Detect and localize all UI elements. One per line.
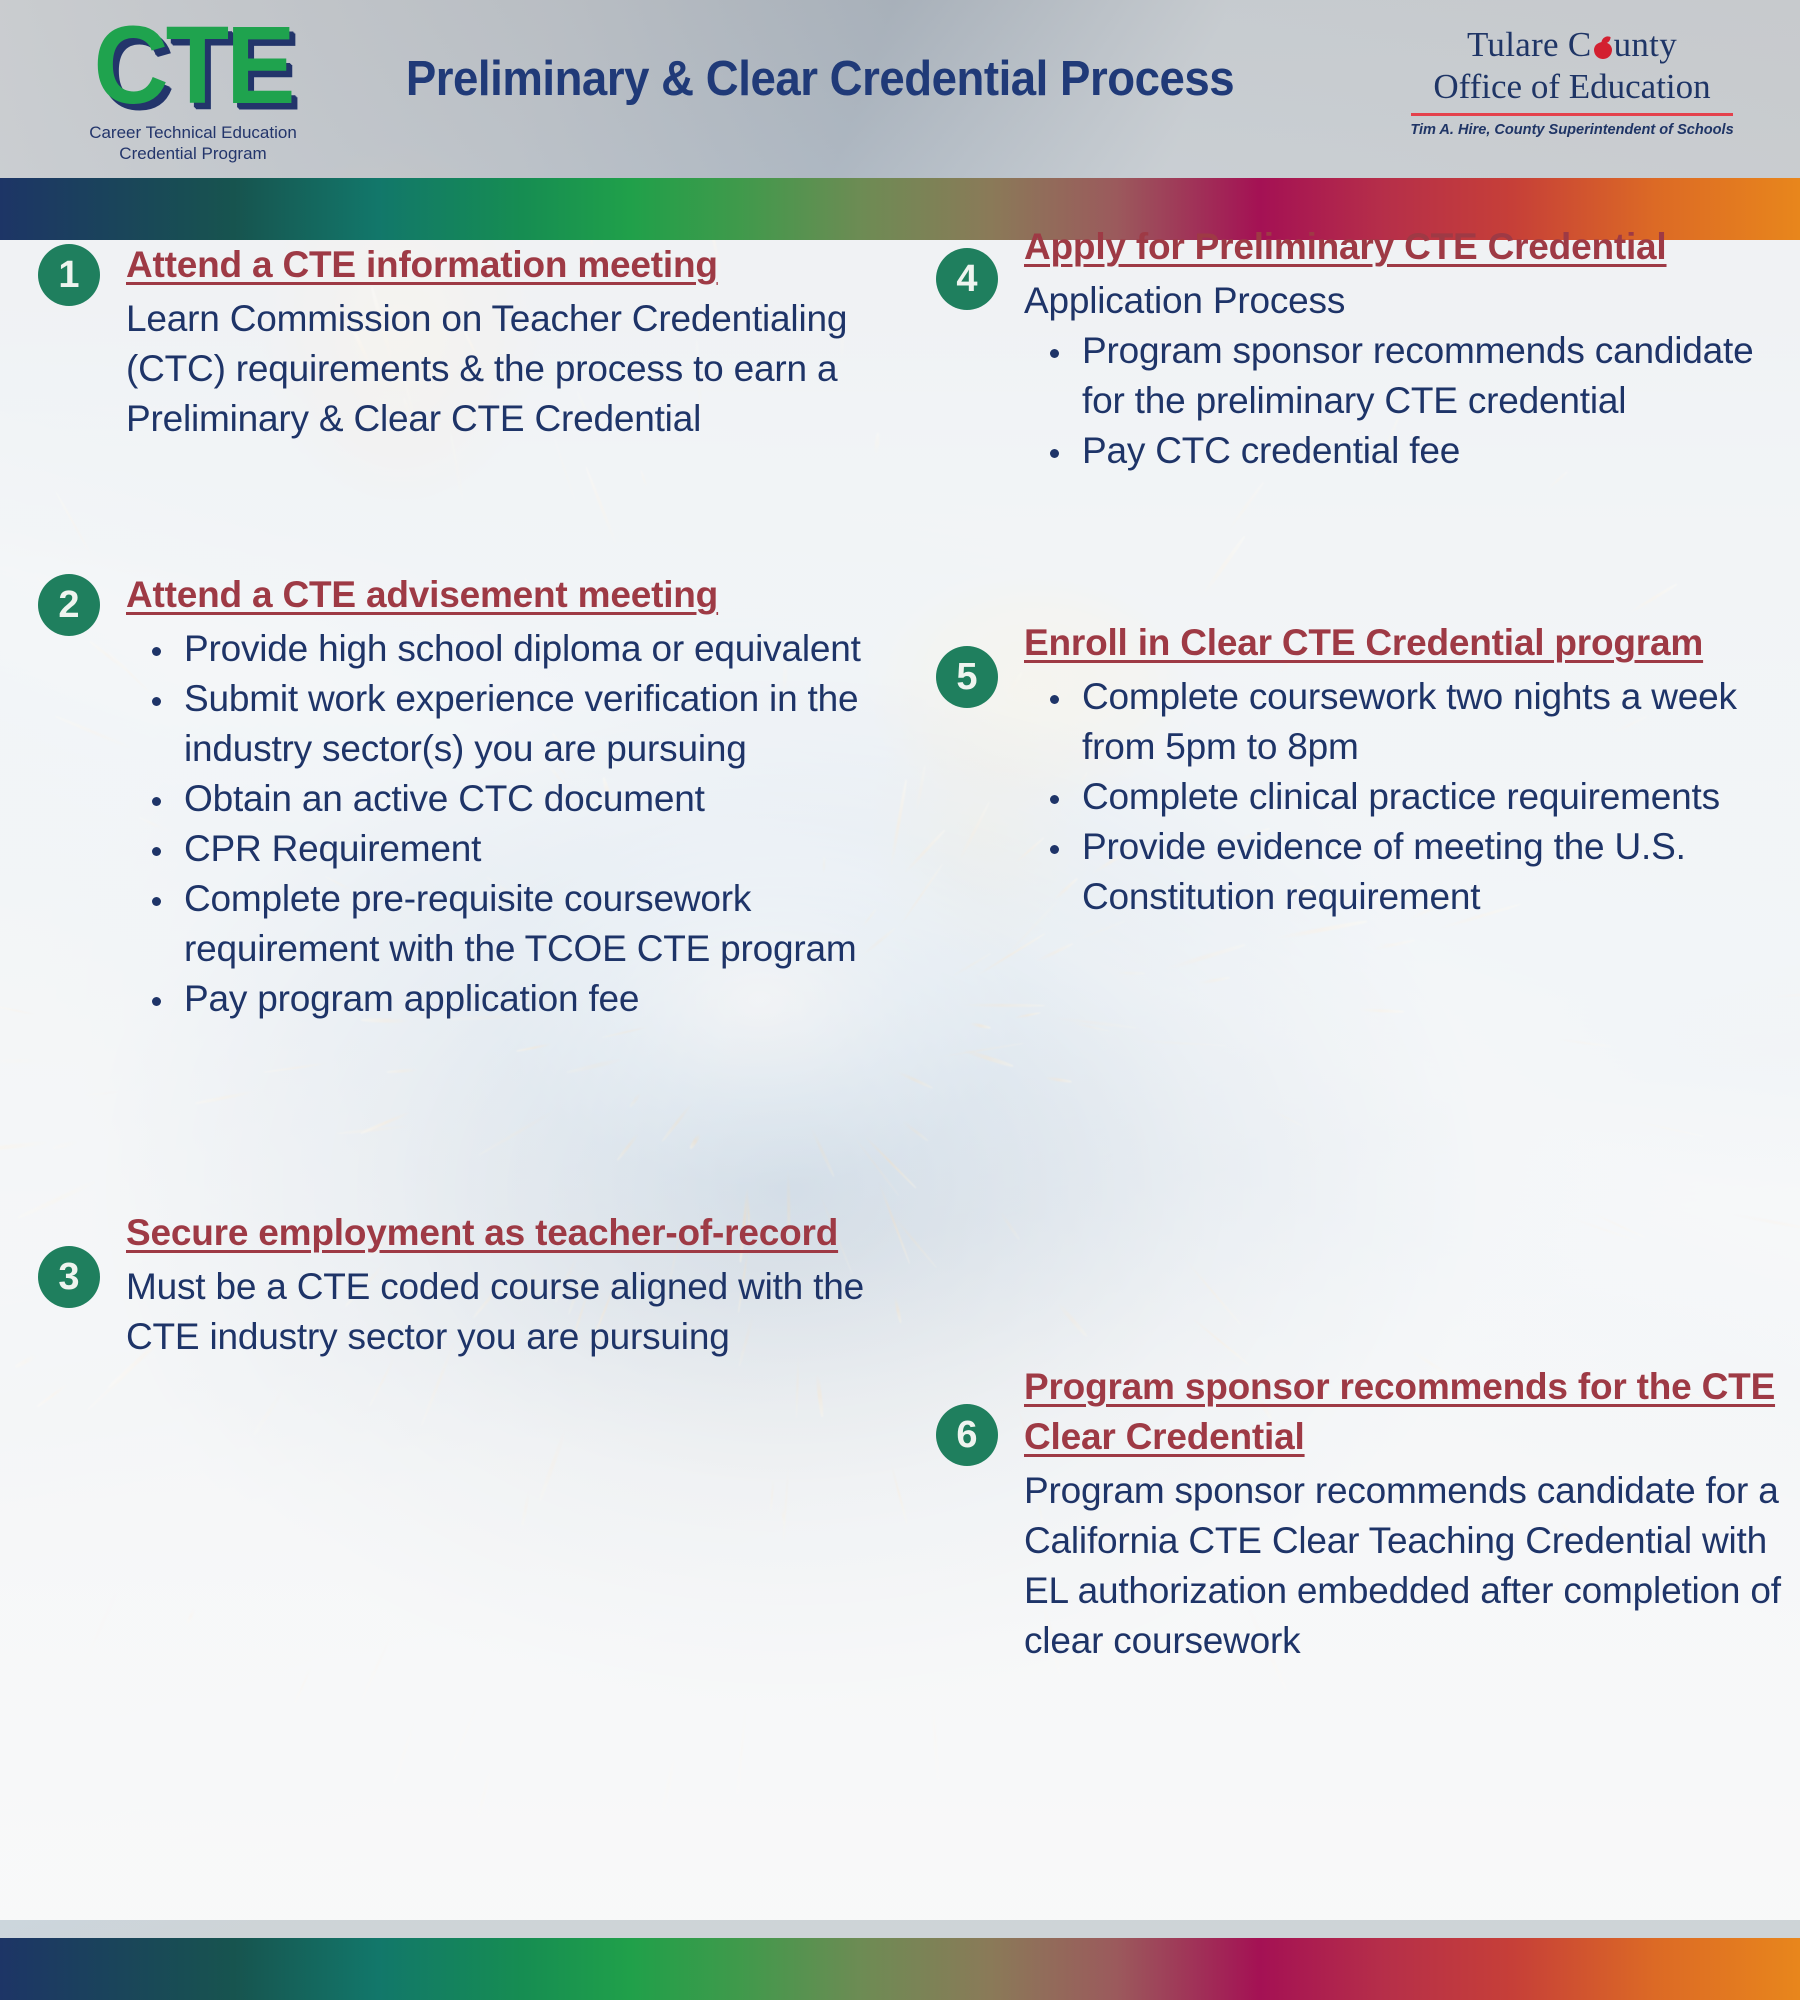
step-body: Attend a CTE advisement meetingProvide h… <box>22 570 902 1024</box>
step-bullet-item: Complete clinical practice requirements <box>1038 772 1800 822</box>
tcoe-logo-tagline: Tim A. Hire, County Superintendent of Sc… <box>1407 120 1737 139</box>
step-description: Learn Commission on Teacher Credentialin… <box>126 294 902 444</box>
step-body: Program sponsor recommends for the CTE C… <box>920 1362 1800 1666</box>
step-body: Apply for Preliminary CTE CredentialAppl… <box>920 222 1800 476</box>
step-bullet-item: Pay program application fee <box>140 974 902 1024</box>
step-heading-wrapper: Enroll in Clear CTE Credential program <box>1024 618 1800 668</box>
cte-logo-subtitle-line2: Credential Program <box>62 143 324 164</box>
tcoe-logo-line1: Tulare Cunty <box>1402 24 1742 66</box>
step-bullet-item: Obtain an active CTC document <box>140 774 902 824</box>
step-heading-wrapper: Attend a CTE advisement meeting <box>126 570 902 620</box>
step-bullet-item: Submit work experience verification in t… <box>140 674 902 774</box>
cte-logo-mark: CTE <box>73 14 313 118</box>
step-bullet-item: Provide high school diploma or equivalen… <box>140 624 902 674</box>
step-body: Enroll in Clear CTE Credential programCo… <box>920 618 1800 922</box>
step-bullet-item: CPR Requirement <box>140 824 902 874</box>
steps-content: 1Attend a CTE information meetingLearn C… <box>0 240 1800 1940</box>
step-heading[interactable]: Apply for Preliminary CTE Credential <box>1024 226 1667 267</box>
step-description: Must be a CTE coded course aligned with … <box>126 1262 902 1362</box>
step-number-badge-5: 5 <box>936 646 998 708</box>
step-description: Program sponsor recommends candidate for… <box>1024 1466 1800 1666</box>
apple-icon <box>1593 37 1613 59</box>
step-body: Secure employment as teacher-of-recordMu… <box>22 1208 902 1362</box>
step-bullet-item: Provide evidence of meeting the U.S. Con… <box>1038 822 1800 922</box>
step-number-badge-4: 4 <box>936 248 998 310</box>
step-number-badge-1: 1 <box>38 244 100 306</box>
step-heading[interactable]: Attend a CTE information meeting <box>126 244 718 285</box>
process-step: 4Apply for Preliminary CTE CredentialApp… <box>920 222 1800 476</box>
step-heading[interactable]: Secure employment as teacher-of-record <box>126 1212 838 1253</box>
tcoe-logo-divider <box>1411 113 1733 116</box>
process-step: 6Program sponsor recommends for the CTE … <box>920 1362 1800 1666</box>
infographic-page: CTE Career Technical Education Credentia… <box>0 0 1800 2000</box>
process-step: 5Enroll in Clear CTE Credential programC… <box>920 618 1800 922</box>
step-body: Attend a CTE information meetingLearn Co… <box>22 240 902 444</box>
step-heading[interactable]: Enroll in Clear CTE Credential program <box>1024 622 1703 663</box>
tcoe-line1-pre: Tulare C <box>1467 25 1592 64</box>
cte-program-logo: CTE Career Technical Education Credentia… <box>62 14 324 162</box>
step-heading-wrapper: Attend a CTE information meeting <box>126 240 902 290</box>
process-step: 1Attend a CTE information meetingLearn C… <box>22 240 902 444</box>
step-bullet-item: Complete coursework two nights a week fr… <box>1038 672 1800 772</box>
cte-logo-subtitle: Career Technical Education Credential Pr… <box>62 122 324 164</box>
step-bullet-list: Provide high school diploma or equivalen… <box>140 624 902 1024</box>
process-step: 3Secure employment as teacher-of-recordM… <box>22 1208 902 1362</box>
step-bullet-item: Pay CTC credential fee <box>1038 426 1800 476</box>
page-title: Preliminary & Clear Credential Process <box>374 50 1267 108</box>
tulare-county-office-of-education-logo: Tulare Cunty Office of Education Tim A. … <box>1402 24 1742 139</box>
step-number-badge-2: 2 <box>38 574 100 636</box>
step-heading-wrapper: Secure employment as teacher-of-record <box>126 1208 902 1258</box>
step-number-badge-3: 3 <box>38 1246 100 1308</box>
process-step: 2Attend a CTE advisement meetingProvide … <box>22 570 902 1024</box>
tcoe-logo-line2: Office of Education <box>1402 66 1742 108</box>
step-heading[interactable]: Attend a CTE advisement meeting <box>126 574 718 615</box>
header-bar: CTE Career Technical Education Credentia… <box>0 0 1800 178</box>
step-bullet-item: Program sponsor recommends candidate for… <box>1038 326 1800 426</box>
cte-logo-letters: CTE <box>73 11 313 121</box>
step-heading[interactable]: Program sponsor recommends for the CTE C… <box>1024 1366 1775 1457</box>
step-heading-wrapper: Apply for Preliminary CTE Credential <box>1024 222 1800 272</box>
step-number-badge-6: 6 <box>936 1404 998 1466</box>
tcoe-line1-post: unty <box>1614 25 1677 64</box>
step-heading-wrapper: Program sponsor recommends for the CTE C… <box>1024 1362 1800 1462</box>
step-bullet-list: Complete coursework two nights a week fr… <box>1038 672 1800 922</box>
step-bullet-item: Complete pre-requisite coursework requir… <box>140 874 902 974</box>
step-description: Application Process <box>1024 276 1800 326</box>
rainbow-divider-bottom <box>0 1938 1800 2000</box>
step-bullet-list: Program sponsor recommends candidate for… <box>1038 326 1800 476</box>
